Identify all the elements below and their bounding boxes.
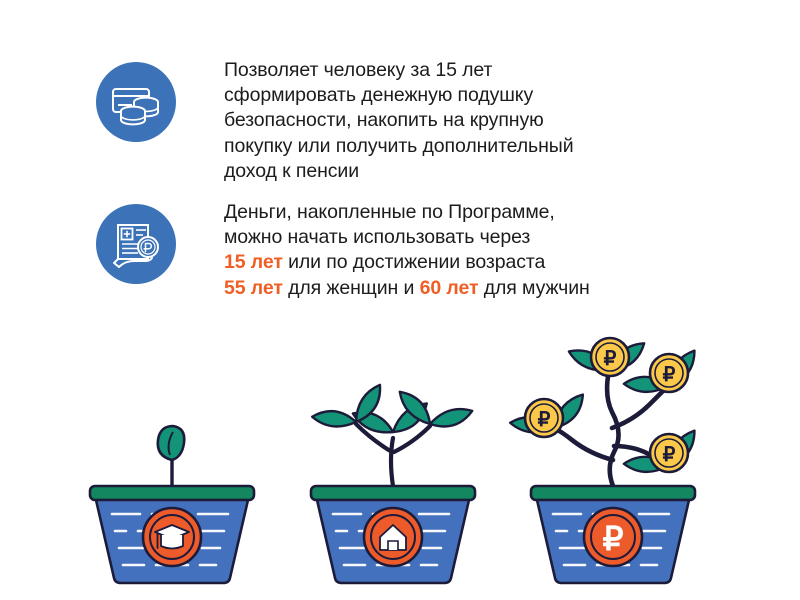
text-line: доход к пенсии (224, 159, 574, 184)
pot-housing (311, 382, 475, 583)
info-block-text: Позволяет человеку за 15 лет сформироват… (224, 58, 574, 184)
plant-sprout-single-leaf (158, 426, 184, 486)
text-line: безопасности, накопить на крупную (224, 108, 574, 133)
text-line: сформировать денежную подушку (224, 83, 574, 108)
pot-savings: ₽ ₽ ₽ (509, 338, 702, 583)
svg-text:₽: ₽ (663, 364, 676, 386)
emblem-ruble: ₽ (584, 508, 642, 566)
card-and-coins-icon (96, 62, 176, 142)
ruble-icon: ₽ (603, 520, 624, 557)
plant-three-branch-leaves (356, 424, 430, 486)
svg-text:₽: ₽ (604, 348, 617, 370)
text-line: 55 лет для женщин и 60 лет для мужчин (224, 276, 590, 301)
svg-text:₽: ₽ (538, 409, 551, 431)
info-block-text: Деньги, накопленные по Программе, можно … (224, 200, 590, 301)
document-hand-ruble-icon (96, 204, 176, 284)
text-line: покупку или получить дополнительный (224, 134, 574, 159)
text-line: можно начать использовать через (224, 225, 590, 250)
svg-text:₽: ₽ (603, 520, 624, 557)
pot-education (90, 426, 254, 583)
svg-text:₽: ₽ (663, 444, 676, 466)
emblem-house (364, 508, 422, 566)
infographic-page: Позволяет человеку за 15 лет сформироват… (0, 0, 800, 600)
coin-on-branch: ₽ (623, 427, 702, 475)
growing-savings-illustration: ₽ ₽ ₽ (0, 300, 800, 600)
highlight-term: 60 лет (420, 277, 479, 299)
coin-on-branch: ₽ (509, 391, 590, 437)
info-block-payout-age: Деньги, накопленные по Программе, можно … (96, 200, 590, 301)
emblem-graduation-cap (143, 508, 201, 566)
info-block-savings-cushion: Позволяет человеку за 15 лет сформироват… (96, 58, 574, 184)
coin-on-branch: ₽ (566, 338, 649, 378)
text-line: 15 лет или по достижении возраста (224, 250, 590, 275)
text-line: Позволяет человеку за 15 лет (224, 58, 574, 83)
text-line: Деньги, накопленные по Программе, (224, 200, 590, 225)
highlight-term: 55 лет (224, 277, 283, 299)
highlight-term: 15 лет (224, 251, 283, 273)
